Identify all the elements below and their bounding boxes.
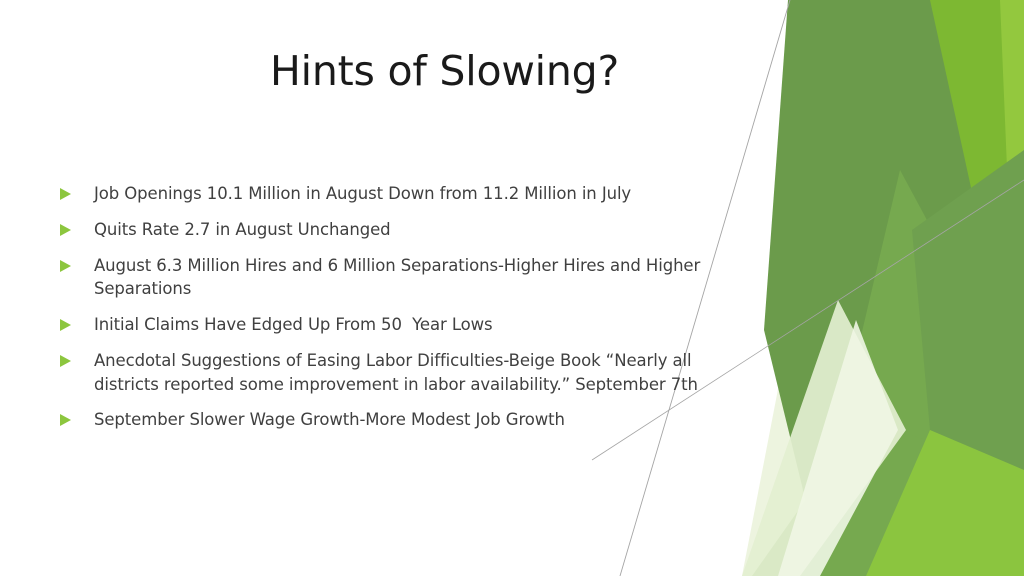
bullet-text: September Slower Wage Growth-More Modest… <box>94 408 760 432</box>
bullet-text: August 6.3 Million Hires and 6 Million S… <box>94 254 760 302</box>
bullet-text: Job Openings 10.1 Million in August Down… <box>94 182 760 206</box>
bullet-item: Quits Rate 2.7 in August Unchanged <box>60 218 760 242</box>
decor-shape-pale-2 <box>836 200 1024 576</box>
bullet-item: September Slower Wage Growth-More Modest… <box>60 408 760 432</box>
decor-shape-lime-accent <box>952 0 1024 576</box>
triangle-right-icon <box>60 408 94 426</box>
bullet-item: Anecdotal Suggestions of Easing Labor Di… <box>60 349 760 397</box>
triangle-right-icon <box>60 349 94 367</box>
decor-shape-palest <box>742 140 1024 576</box>
bullet-item: August 6.3 Million Hires and 6 Million S… <box>60 254 760 302</box>
decor-shape-bright-lime <box>886 0 1024 576</box>
decor-shape-yellow-green <box>906 0 1024 576</box>
bullet-text: Quits Rate 2.7 in August Unchanged <box>94 218 760 242</box>
decor-shape-dark-green <box>764 0 1024 576</box>
slide-title: Hints of Slowing? <box>270 48 790 96</box>
triangle-right-icon <box>60 218 94 236</box>
triangle-right-icon <box>60 313 94 331</box>
bullet-list: Job Openings 10.1 Million in August Down… <box>60 182 760 432</box>
decor-shape-pale <box>790 100 1024 576</box>
decor-shape-mid-green <box>846 170 1024 576</box>
bullet-text: Anecdotal Suggestions of Easing Labor Di… <box>94 349 760 397</box>
decor-shape-lower-sweep <box>752 420 1024 576</box>
slide-canvas: Hints of Slowing? Job Openings 10.1 Mill… <box>0 0 1024 576</box>
decor-shape-palest-sliver <box>778 320 898 576</box>
triangle-right-icon <box>60 254 94 272</box>
bullet-text: Initial Claims Have Edged Up From 50 Yea… <box>94 313 760 337</box>
bullet-item: Job Openings 10.1 Million in August Down… <box>60 182 760 206</box>
bullet-item: Initial Claims Have Edged Up From 50 Yea… <box>60 313 760 337</box>
decor-shape-olive <box>912 150 1024 520</box>
decor-shape-lower-lime <box>866 430 1024 576</box>
decor-shape-pale-strip <box>742 300 906 576</box>
triangle-right-icon <box>60 182 94 200</box>
